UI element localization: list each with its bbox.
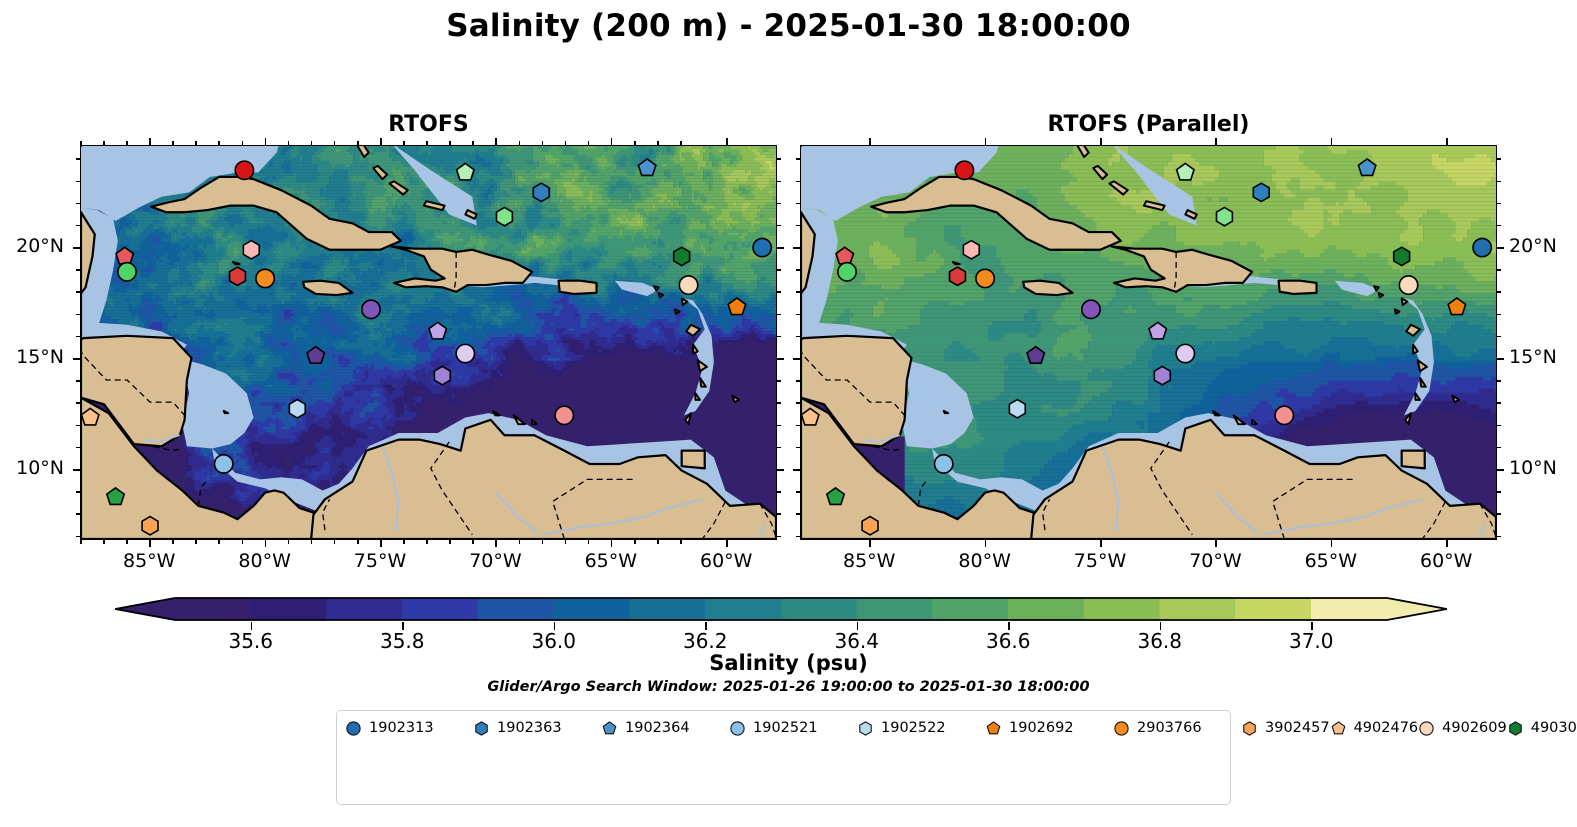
y-tick-minor-right xyxy=(777,225,781,227)
colorbar-tick-label: 36.2 xyxy=(660,629,750,653)
figure-root: Salinity (200 m) - 2025-01-30 18:00:00 R… xyxy=(0,0,1577,827)
legend-label: 3902457 xyxy=(1265,721,1330,736)
y-tick-minor xyxy=(76,380,80,382)
argo-marker[interactable] xyxy=(235,161,253,179)
x-tick-label: 80°W xyxy=(220,550,310,572)
y-tick-minor-right xyxy=(777,491,781,493)
legend-item[interactable]: 4902609 xyxy=(1418,718,1507,738)
x-tick-minor-top xyxy=(565,141,567,145)
legend-marker-pentagon-icon xyxy=(985,720,1002,737)
x-tick-label: 85°W xyxy=(104,550,194,572)
colorbar-tick-label: 36.8 xyxy=(1115,629,1205,653)
y-tick-minor-right xyxy=(1497,536,1501,538)
y-tick-minor-right xyxy=(1497,380,1501,382)
argo-marker[interactable] xyxy=(256,269,274,287)
x-tick-minor xyxy=(218,540,220,544)
legend-item[interactable]: 4903051 xyxy=(1507,718,1577,738)
x-tick-label: 75°W xyxy=(1055,550,1145,572)
x-tick-minor xyxy=(519,540,521,544)
legend-label: 1902363 xyxy=(497,721,562,736)
argo-marker[interactable] xyxy=(456,344,474,362)
legend-marker-hexagon-icon xyxy=(1507,720,1524,737)
x-tick-top xyxy=(1331,138,1333,145)
argo-marker[interactable] xyxy=(1473,238,1491,256)
x-tick-top xyxy=(149,138,151,145)
colorbar-tick-label: 37.0 xyxy=(1266,629,1356,653)
x-tick xyxy=(495,540,497,547)
y-tick-right xyxy=(777,247,784,249)
x-tick-minor xyxy=(357,540,359,544)
x-tick-top xyxy=(1215,138,1217,145)
legend-item[interactable]: 1902522 xyxy=(857,718,985,738)
argo-marker[interactable] xyxy=(679,276,697,294)
x-tick-minor xyxy=(80,540,82,544)
y-tick-minor-right xyxy=(777,402,781,404)
y-tick-minor xyxy=(76,203,80,205)
y-tick-minor xyxy=(796,158,800,160)
x-tick-minor xyxy=(172,540,174,544)
x-tick xyxy=(149,540,151,547)
y-tick-minor xyxy=(796,225,800,227)
legend-label: 1902692 xyxy=(1009,721,1074,736)
argo-marker[interactable] xyxy=(1394,247,1410,265)
y-tick xyxy=(793,358,800,360)
colorbar-title: Salinity (psu) xyxy=(0,651,1577,675)
y-tick-minor xyxy=(796,536,800,538)
y-tick-minor xyxy=(76,158,80,160)
x-tick-minor xyxy=(565,540,567,544)
y-tick-minor-right xyxy=(777,336,781,338)
x-tick-minor xyxy=(472,540,474,544)
map-panel-rtofs[interactable] xyxy=(80,145,777,540)
y-tick-minor xyxy=(796,491,800,493)
y-tick-minor xyxy=(76,491,80,493)
y-tick-minor xyxy=(76,513,80,515)
y-tick-label: 10°N xyxy=(0,457,64,479)
x-tick-minor xyxy=(195,540,197,544)
legend-item[interactable]: 1902692 xyxy=(985,718,1113,738)
x-tick-minor-top xyxy=(311,141,313,145)
y-tick xyxy=(793,247,800,249)
x-tick-minor xyxy=(334,540,336,544)
y-tick-minor xyxy=(76,336,80,338)
legend-item[interactable]: 1902313 xyxy=(345,718,473,738)
y-tick-minor xyxy=(76,536,80,538)
float-legend[interactable]: 1902313 1902363 1902364 1902521 1902522 xyxy=(336,710,1231,805)
x-tick-top xyxy=(611,138,613,145)
y-tick-minor-right xyxy=(1497,314,1501,316)
argo-marker[interactable] xyxy=(976,269,994,287)
y-tick-minor-right xyxy=(1497,447,1501,449)
x-tick-minor-top xyxy=(218,141,220,145)
argo-marker[interactable] xyxy=(838,263,856,281)
legend-marker-hexagon-icon xyxy=(1241,720,1258,737)
y-tick-minor xyxy=(796,314,800,316)
argo-marker[interactable] xyxy=(142,517,158,535)
argo-marker[interactable] xyxy=(862,517,878,535)
y-tick-minor-right xyxy=(777,181,781,183)
argo-marker[interactable] xyxy=(1082,300,1100,318)
x-tick-minor-top xyxy=(357,141,359,145)
argo-marker[interactable] xyxy=(555,406,573,424)
colorbar-tick-label: 36.6 xyxy=(963,629,1053,653)
y-tick-minor-right xyxy=(1497,491,1501,493)
x-tick-label: 70°W xyxy=(450,550,540,572)
x-tick-minor-top xyxy=(403,141,405,145)
y-tick-minor xyxy=(796,291,800,293)
x-tick-minor-top xyxy=(334,141,336,145)
legend-marker-pentagon-icon xyxy=(1330,720,1347,737)
y-tick xyxy=(793,469,800,471)
x-tick-minor xyxy=(242,540,244,544)
legend-marker-circle-icon xyxy=(729,720,746,737)
x-tick-label: 80°W xyxy=(940,550,1030,572)
x-tick-minor xyxy=(588,540,590,544)
legend-label: 4903051 xyxy=(1531,721,1577,736)
x-tick-minor xyxy=(103,540,105,544)
legend-marker-hexagon-icon xyxy=(473,720,490,737)
legend-item[interactable]: 1902363 xyxy=(473,718,601,738)
y-tick-right xyxy=(1497,358,1504,360)
argo-marker[interactable] xyxy=(1399,276,1417,294)
y-tick-minor xyxy=(76,402,80,404)
y-tick-minor-right xyxy=(777,447,781,449)
y-tick-right xyxy=(1497,247,1504,249)
x-tick xyxy=(985,540,987,547)
y-tick-minor-right xyxy=(777,269,781,271)
legend-item[interactable]: 1902364 xyxy=(601,718,729,738)
x-tick-minor xyxy=(542,540,544,544)
x-tick-top xyxy=(985,138,987,145)
argo-marker[interactable] xyxy=(215,455,233,473)
y-tick-minor-right xyxy=(1497,181,1501,183)
y-tick-minor xyxy=(76,447,80,449)
argo-marker[interactable] xyxy=(362,300,380,318)
legend-item[interactable]: 4902476 xyxy=(1330,718,1419,738)
x-tick-minor-top xyxy=(195,141,197,145)
panel-title-right: RTOFS (Parallel) xyxy=(800,112,1497,137)
x-tick-label: 65°W xyxy=(1286,550,1376,572)
x-tick-minor-top xyxy=(680,141,682,145)
x-tick xyxy=(265,540,267,547)
y-tick-minor-right xyxy=(777,203,781,205)
x-tick-minor-top xyxy=(80,141,82,145)
argo-marker[interactable] xyxy=(963,241,979,259)
y-tick-minor-right xyxy=(1497,203,1501,205)
y-tick-minor-right xyxy=(1497,336,1501,338)
x-tick-minor-top xyxy=(288,141,290,145)
y-tick-minor-right xyxy=(1497,425,1501,427)
y-tick-minor xyxy=(76,269,80,271)
x-tick-top xyxy=(1100,138,1102,145)
argo-marker[interactable] xyxy=(955,161,973,179)
argo-marker[interactable] xyxy=(935,455,953,473)
legend-marker-circle-icon xyxy=(1113,720,1130,737)
x-tick-minor-top xyxy=(242,141,244,145)
salinity-map-left xyxy=(81,146,776,539)
y-tick-minor-right xyxy=(777,536,781,538)
argo-marker[interactable] xyxy=(496,207,512,225)
argo-marker[interactable] xyxy=(1216,207,1232,225)
legend-grid: 1902313 1902363 1902364 1902521 1902522 xyxy=(345,718,1577,738)
y-tick-minor xyxy=(796,203,800,205)
y-tick-minor-right xyxy=(1497,291,1501,293)
y-tick-minor-right xyxy=(777,158,781,160)
x-tick-minor xyxy=(449,540,451,544)
x-tick-minor xyxy=(311,540,313,544)
y-tick-label-right: 15°N xyxy=(1509,346,1577,368)
argo-marker[interactable] xyxy=(1176,344,1194,362)
y-tick-minor xyxy=(796,181,800,183)
x-tick-minor-top xyxy=(472,141,474,145)
y-tick-label: 20°N xyxy=(0,235,64,257)
argo-marker[interactable] xyxy=(1253,183,1269,201)
x-tick-minor-top xyxy=(657,141,659,145)
argo-marker[interactable] xyxy=(1009,400,1025,418)
y-tick-right xyxy=(777,358,784,360)
y-tick xyxy=(73,247,80,249)
y-tick xyxy=(73,358,80,360)
x-tick xyxy=(1100,540,1102,547)
argo-marker[interactable] xyxy=(533,183,549,201)
x-tick-top xyxy=(869,138,871,145)
y-tick xyxy=(73,469,80,471)
y-tick-minor xyxy=(76,291,80,293)
x-tick-top xyxy=(265,138,267,145)
x-tick-label: 65°W xyxy=(566,550,656,572)
y-tick-right xyxy=(777,469,784,471)
x-tick-minor xyxy=(634,540,636,544)
map-panel-rtofs-parallel[interactable] xyxy=(800,145,1497,540)
y-tick-minor-right xyxy=(1497,402,1501,404)
y-tick-minor xyxy=(796,513,800,515)
x-tick xyxy=(1331,540,1333,547)
salinity-map-right xyxy=(801,146,1496,539)
x-tick-minor-top xyxy=(449,141,451,145)
x-tick xyxy=(726,540,728,547)
legend-marker-pentagon-icon xyxy=(601,720,618,737)
legend-item[interactable]: 1902521 xyxy=(729,718,857,738)
y-tick-minor-right xyxy=(1497,269,1501,271)
x-tick-minor-top xyxy=(126,141,128,145)
y-tick-minor-right xyxy=(777,425,781,427)
argo-marker[interactable] xyxy=(434,366,450,384)
x-tick-minor xyxy=(657,540,659,544)
y-tick-minor-right xyxy=(777,314,781,316)
x-tick-label: 60°W xyxy=(1401,550,1491,572)
y-tick-minor-right xyxy=(777,291,781,293)
argo-marker[interactable] xyxy=(753,238,771,256)
legend-label: 4902609 xyxy=(1442,721,1507,736)
x-tick-minor-top xyxy=(634,141,636,145)
page-title: Salinity (200 m) - 2025-01-30 18:00:00 xyxy=(0,8,1577,44)
y-tick-minor xyxy=(796,336,800,338)
y-tick-minor-right xyxy=(777,380,781,382)
colorbar xyxy=(115,596,1447,622)
y-tick-minor-right xyxy=(1497,158,1501,160)
y-tick-minor xyxy=(76,181,80,183)
legend-label: 2903766 xyxy=(1137,721,1202,736)
y-tick-minor-right xyxy=(777,513,781,515)
x-tick-label: 75°W xyxy=(335,550,425,572)
panel-title-left: RTOFS xyxy=(80,112,777,137)
y-tick-right xyxy=(1497,469,1504,471)
legend-item[interactable]: 3902457 xyxy=(1241,718,1330,738)
x-tick-label: 70°W xyxy=(1170,550,1260,572)
x-tick-minor-top xyxy=(519,141,521,145)
legend-label: 1902521 xyxy=(753,721,818,736)
x-tick xyxy=(1446,540,1448,547)
x-tick xyxy=(611,540,613,547)
y-tick-minor-right xyxy=(1497,513,1501,515)
y-tick-minor-right xyxy=(1497,225,1501,227)
colorbar-tick-label: 36.0 xyxy=(509,629,599,653)
y-tick-label-right: 20°N xyxy=(1509,235,1577,257)
x-tick-minor-top xyxy=(426,141,428,145)
x-tick-minor xyxy=(403,540,405,544)
argo-marker[interactable] xyxy=(289,400,305,418)
y-tick-label-right: 10°N xyxy=(1509,457,1577,479)
x-tick-minor xyxy=(426,540,428,544)
y-tick-minor xyxy=(796,380,800,382)
legend-marker-circle-icon xyxy=(345,720,362,737)
y-tick-minor xyxy=(76,225,80,227)
x-tick-minor-top xyxy=(103,141,105,145)
search-window-subtitle: Glider/Argo Search Window: 2025-01-26 19… xyxy=(0,679,1577,695)
x-tick-minor xyxy=(288,540,290,544)
x-tick xyxy=(380,540,382,547)
colorbar-tick-label: 35.8 xyxy=(357,629,447,653)
y-tick-minor xyxy=(76,425,80,427)
legend-label: 1902522 xyxy=(881,721,946,736)
argo-marker[interactable] xyxy=(1275,406,1293,424)
y-tick-minor xyxy=(796,425,800,427)
x-tick-label: 60°W xyxy=(681,550,771,572)
legend-label: 4902476 xyxy=(1354,721,1419,736)
x-tick-minor xyxy=(680,540,682,544)
x-tick-minor-top xyxy=(542,141,544,145)
argo-marker[interactable] xyxy=(674,247,690,265)
y-tick-minor xyxy=(796,269,800,271)
argo-marker[interactable] xyxy=(118,263,136,281)
x-tick xyxy=(1215,540,1217,547)
x-tick-top xyxy=(380,138,382,145)
x-tick-minor xyxy=(126,540,128,544)
argo-marker[interactable] xyxy=(230,267,246,285)
argo-marker[interactable] xyxy=(243,241,259,259)
legend-marker-circle-icon xyxy=(1418,720,1435,737)
colorbar-tick-label: 36.4 xyxy=(812,629,902,653)
legend-item[interactable]: 2903766 xyxy=(1113,718,1241,738)
x-tick-top xyxy=(1446,138,1448,145)
x-tick-label: 85°W xyxy=(824,550,914,572)
legend-label: 1902313 xyxy=(369,721,434,736)
x-tick-top xyxy=(495,138,497,145)
legend-label: 1902364 xyxy=(625,721,690,736)
colorbar-tick-label: 35.6 xyxy=(206,629,296,653)
colorbar-gradient xyxy=(115,596,1447,622)
y-tick-minor xyxy=(796,447,800,449)
y-tick-label: 15°N xyxy=(0,346,64,368)
x-tick-minor-top xyxy=(588,141,590,145)
x-tick xyxy=(869,540,871,547)
x-tick-top xyxy=(726,138,728,145)
y-tick-minor xyxy=(796,402,800,404)
argo-marker[interactable] xyxy=(950,267,966,285)
legend-marker-hexagon-icon xyxy=(857,720,874,737)
x-tick-minor-top xyxy=(172,141,174,145)
argo-marker[interactable] xyxy=(1154,366,1170,384)
y-tick-minor xyxy=(76,314,80,316)
